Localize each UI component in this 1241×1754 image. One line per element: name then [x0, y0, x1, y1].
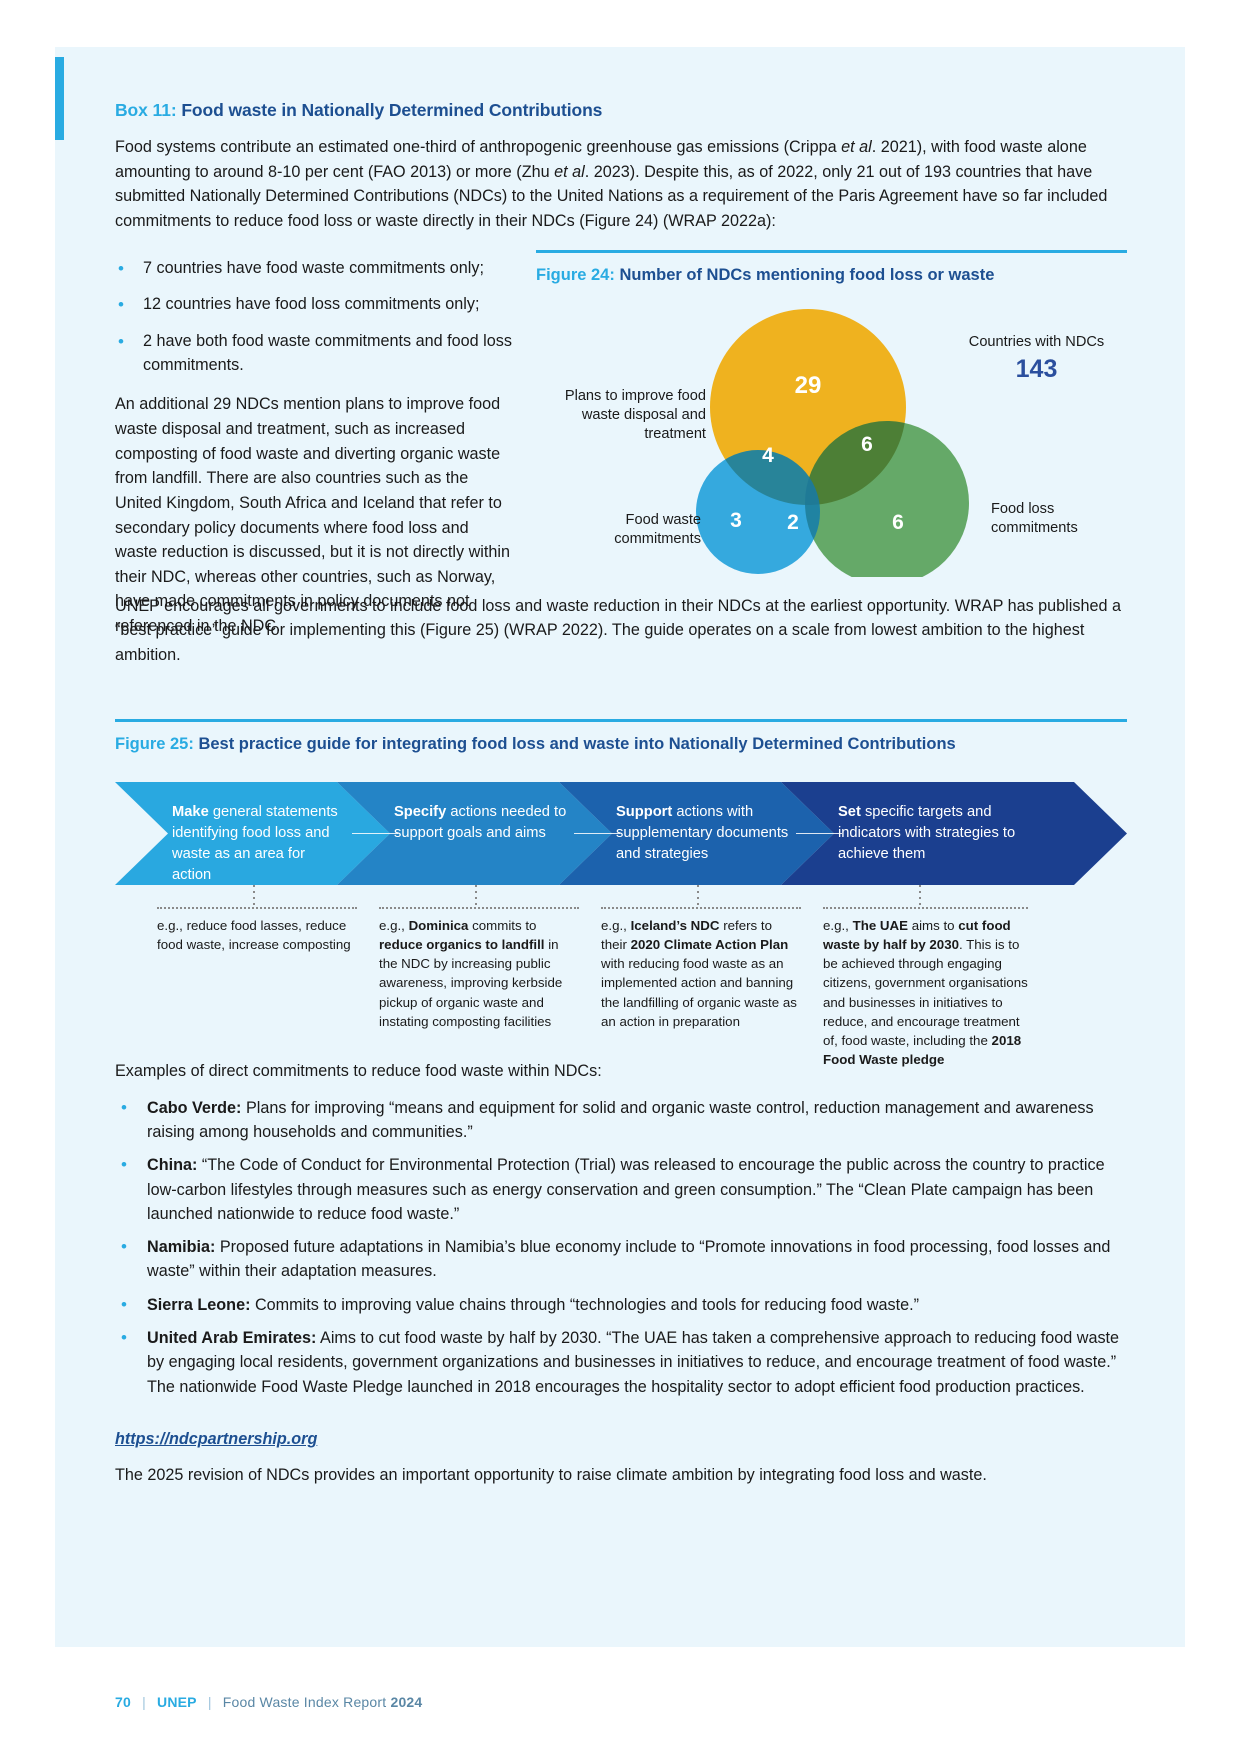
note-connectors [115, 885, 1127, 907]
venn-value-waste-only: 3 [730, 509, 742, 532]
note-4-text: e.g., The UAE aims to cut food waste by … [823, 918, 1028, 1067]
document-page: Box 11: Food waste in Nationally Determi… [0, 0, 1241, 1754]
venn-value-plans-loss: 6 [861, 433, 873, 456]
chevron-label-2: Specify actions needed to support goals … [394, 802, 569, 844]
figure-24-title: Number of NDCs mentioning food loss or w… [619, 266, 994, 284]
example-text-1: “The Code of Conduct for Environmental P… [147, 1156, 1105, 1223]
box-title: Box 11: Food waste in Nationally Determi… [115, 100, 1127, 121]
example-text-2: Proposed future adaptations in Namibia’s… [147, 1238, 1110, 1280]
venn-value-plans-waste: 4 [762, 444, 774, 467]
list-item: Cabo Verde: Plans for improving “means a… [115, 1096, 1127, 1145]
footer-org: UNEP [157, 1694, 197, 1710]
footer-report-year: 2024 [390, 1694, 422, 1710]
venn-diagram: 29 4 6 3 2 6 Plans to improve food waste… [536, 295, 1127, 577]
note-2-dotted-rule [379, 907, 579, 909]
additional-ndcs-paragraph: An additional 29 NDCs mention plans to i… [115, 392, 515, 638]
chevron-label-1-bold: Make [172, 804, 209, 820]
chevron-label-3-bold: Support [616, 804, 672, 820]
page-content: Box 11: Food waste in Nationally Determi… [115, 47, 1127, 1488]
example-country-0: Cabo Verde: [147, 1099, 241, 1117]
chevron-label-2-bold: Specify [394, 804, 446, 820]
example-country-2: Namibia: [147, 1238, 215, 1256]
venn-value-waste-loss: 2 [787, 511, 799, 534]
figure-25-rule [115, 719, 1127, 722]
note-1: e.g., reduce food lasses, reduce food wa… [157, 907, 357, 954]
examples-section: Examples of direct commitments to reduce… [115, 1059, 1127, 1488]
venn-label-food-waste: Food waste commitments [536, 511, 701, 549]
ndc-caption: Countries with NDCs [969, 334, 1104, 350]
figure-25-notes: e.g., reduce food lasses, reduce food wa… [115, 907, 1127, 1045]
figure-25-label: Figure 25: [115, 735, 194, 753]
ndc-partnership-link[interactable]: https://ndcpartnership.org [115, 1430, 317, 1449]
venn-value-loss-only: 6 [892, 511, 904, 534]
list-item: China: “The Code of Conduct for Environm… [115, 1153, 1127, 1226]
footer-page-number: 70 [115, 1694, 131, 1710]
chevron-label-4: Set specific targets and indicators with… [838, 802, 1028, 865]
examples-list: Cabo Verde: Plans for improving “means a… [115, 1096, 1127, 1399]
note-1-dotted-rule [157, 907, 357, 909]
list-item: 2 have both food waste commitments and f… [115, 330, 515, 378]
venn-label-plans: Plans to improve food waste disposal and… [536, 387, 706, 444]
note-connector-svg [115, 885, 1127, 907]
example-country-1: China: [147, 1156, 197, 1174]
figure-25-title: Best practice guide for integrating food… [198, 735, 955, 753]
footer-separator-1: | [142, 1694, 146, 1710]
ndc-total-value: 143 [946, 353, 1127, 386]
figure-24-label: Figure 24: [536, 266, 615, 284]
example-text-3: Commits to improving value chains throug… [250, 1296, 919, 1314]
chevron-label-4-bold: Set [838, 804, 861, 820]
list-item: United Arab Emirates: Aims to cut food w… [115, 1326, 1127, 1399]
list-item: Sierra Leone: Commits to improving value… [115, 1293, 1127, 1317]
example-text-0: Plans for improving “means and equipment… [147, 1099, 1094, 1141]
chevron-label-3: Support actions with supplementary docum… [616, 802, 796, 865]
note-2-text: e.g., Dominica commits to reduce organic… [379, 918, 562, 1029]
list-item: Namibia: Proposed future adaptations in … [115, 1235, 1127, 1284]
two-column-region: 7 countries have food waste commitments … [115, 250, 1127, 580]
chevron-label-1: Make general statements identifying food… [172, 802, 347, 886]
box-accent-bar [55, 57, 64, 140]
note-4: e.g., The UAE aims to cut food waste by … [823, 907, 1028, 1069]
note-3: e.g., Iceland’s NDC refers to their 2020… [601, 907, 801, 1031]
note-3-dotted-rule [601, 907, 801, 909]
box-intro-paragraph: Food systems contribute an estimated one… [115, 135, 1127, 234]
figure-24: Figure 24: Number of NDCs mentioning foo… [536, 250, 1127, 578]
figure-24-rule [536, 250, 1127, 253]
commitment-bullet-list: 7 countries have food waste commitments … [115, 257, 515, 379]
chevron-flow: Make general statements identifying food… [115, 782, 1127, 885]
footer-separator-2: | [208, 1694, 212, 1710]
venn-label-countries-with-ndcs: Countries with NDCs 143 [946, 333, 1127, 385]
note-3-text: e.g., Iceland’s NDC refers to their 2020… [601, 918, 797, 1029]
chevron-label-4-rest: specific targets and indicators with str… [838, 804, 1015, 862]
left-column: 7 countries have food waste commitments … [115, 250, 515, 639]
venn-value-plans-only: 29 [795, 372, 822, 399]
note-4-dotted-rule [823, 907, 1028, 909]
figure-24-caption: Figure 24: Number of NDCs mentioning foo… [536, 265, 1127, 286]
page-footer: 70 | UNEP | Food Waste Index Report 2024 [115, 1694, 422, 1710]
figure-25-caption: Figure 25: Best practice guide for integ… [115, 734, 1127, 755]
list-item: 7 countries have food waste commitments … [115, 257, 515, 281]
example-country-4: United Arab Emirates: [147, 1329, 316, 1347]
box-title-text: Food waste in Nationally Determined Cont… [181, 100, 602, 120]
note-1-text: e.g., reduce food lasses, reduce food wa… [157, 918, 351, 952]
venn-label-food-loss: Food loss commitments [991, 500, 1131, 538]
footer-report-title: Food Waste Index Report [223, 1694, 391, 1710]
figure-25: Figure 25: Best practice guide for integ… [115, 719, 1127, 1045]
box-number: Box 11: [115, 100, 177, 120]
list-item: 12 countries have food loss commitments … [115, 293, 515, 317]
example-country-3: Sierra Leone: [147, 1296, 250, 1314]
note-2: e.g., Dominica commits to reduce organic… [379, 907, 579, 1031]
closing-paragraph: The 2025 revision of NDCs provides an im… [115, 1463, 1127, 1488]
